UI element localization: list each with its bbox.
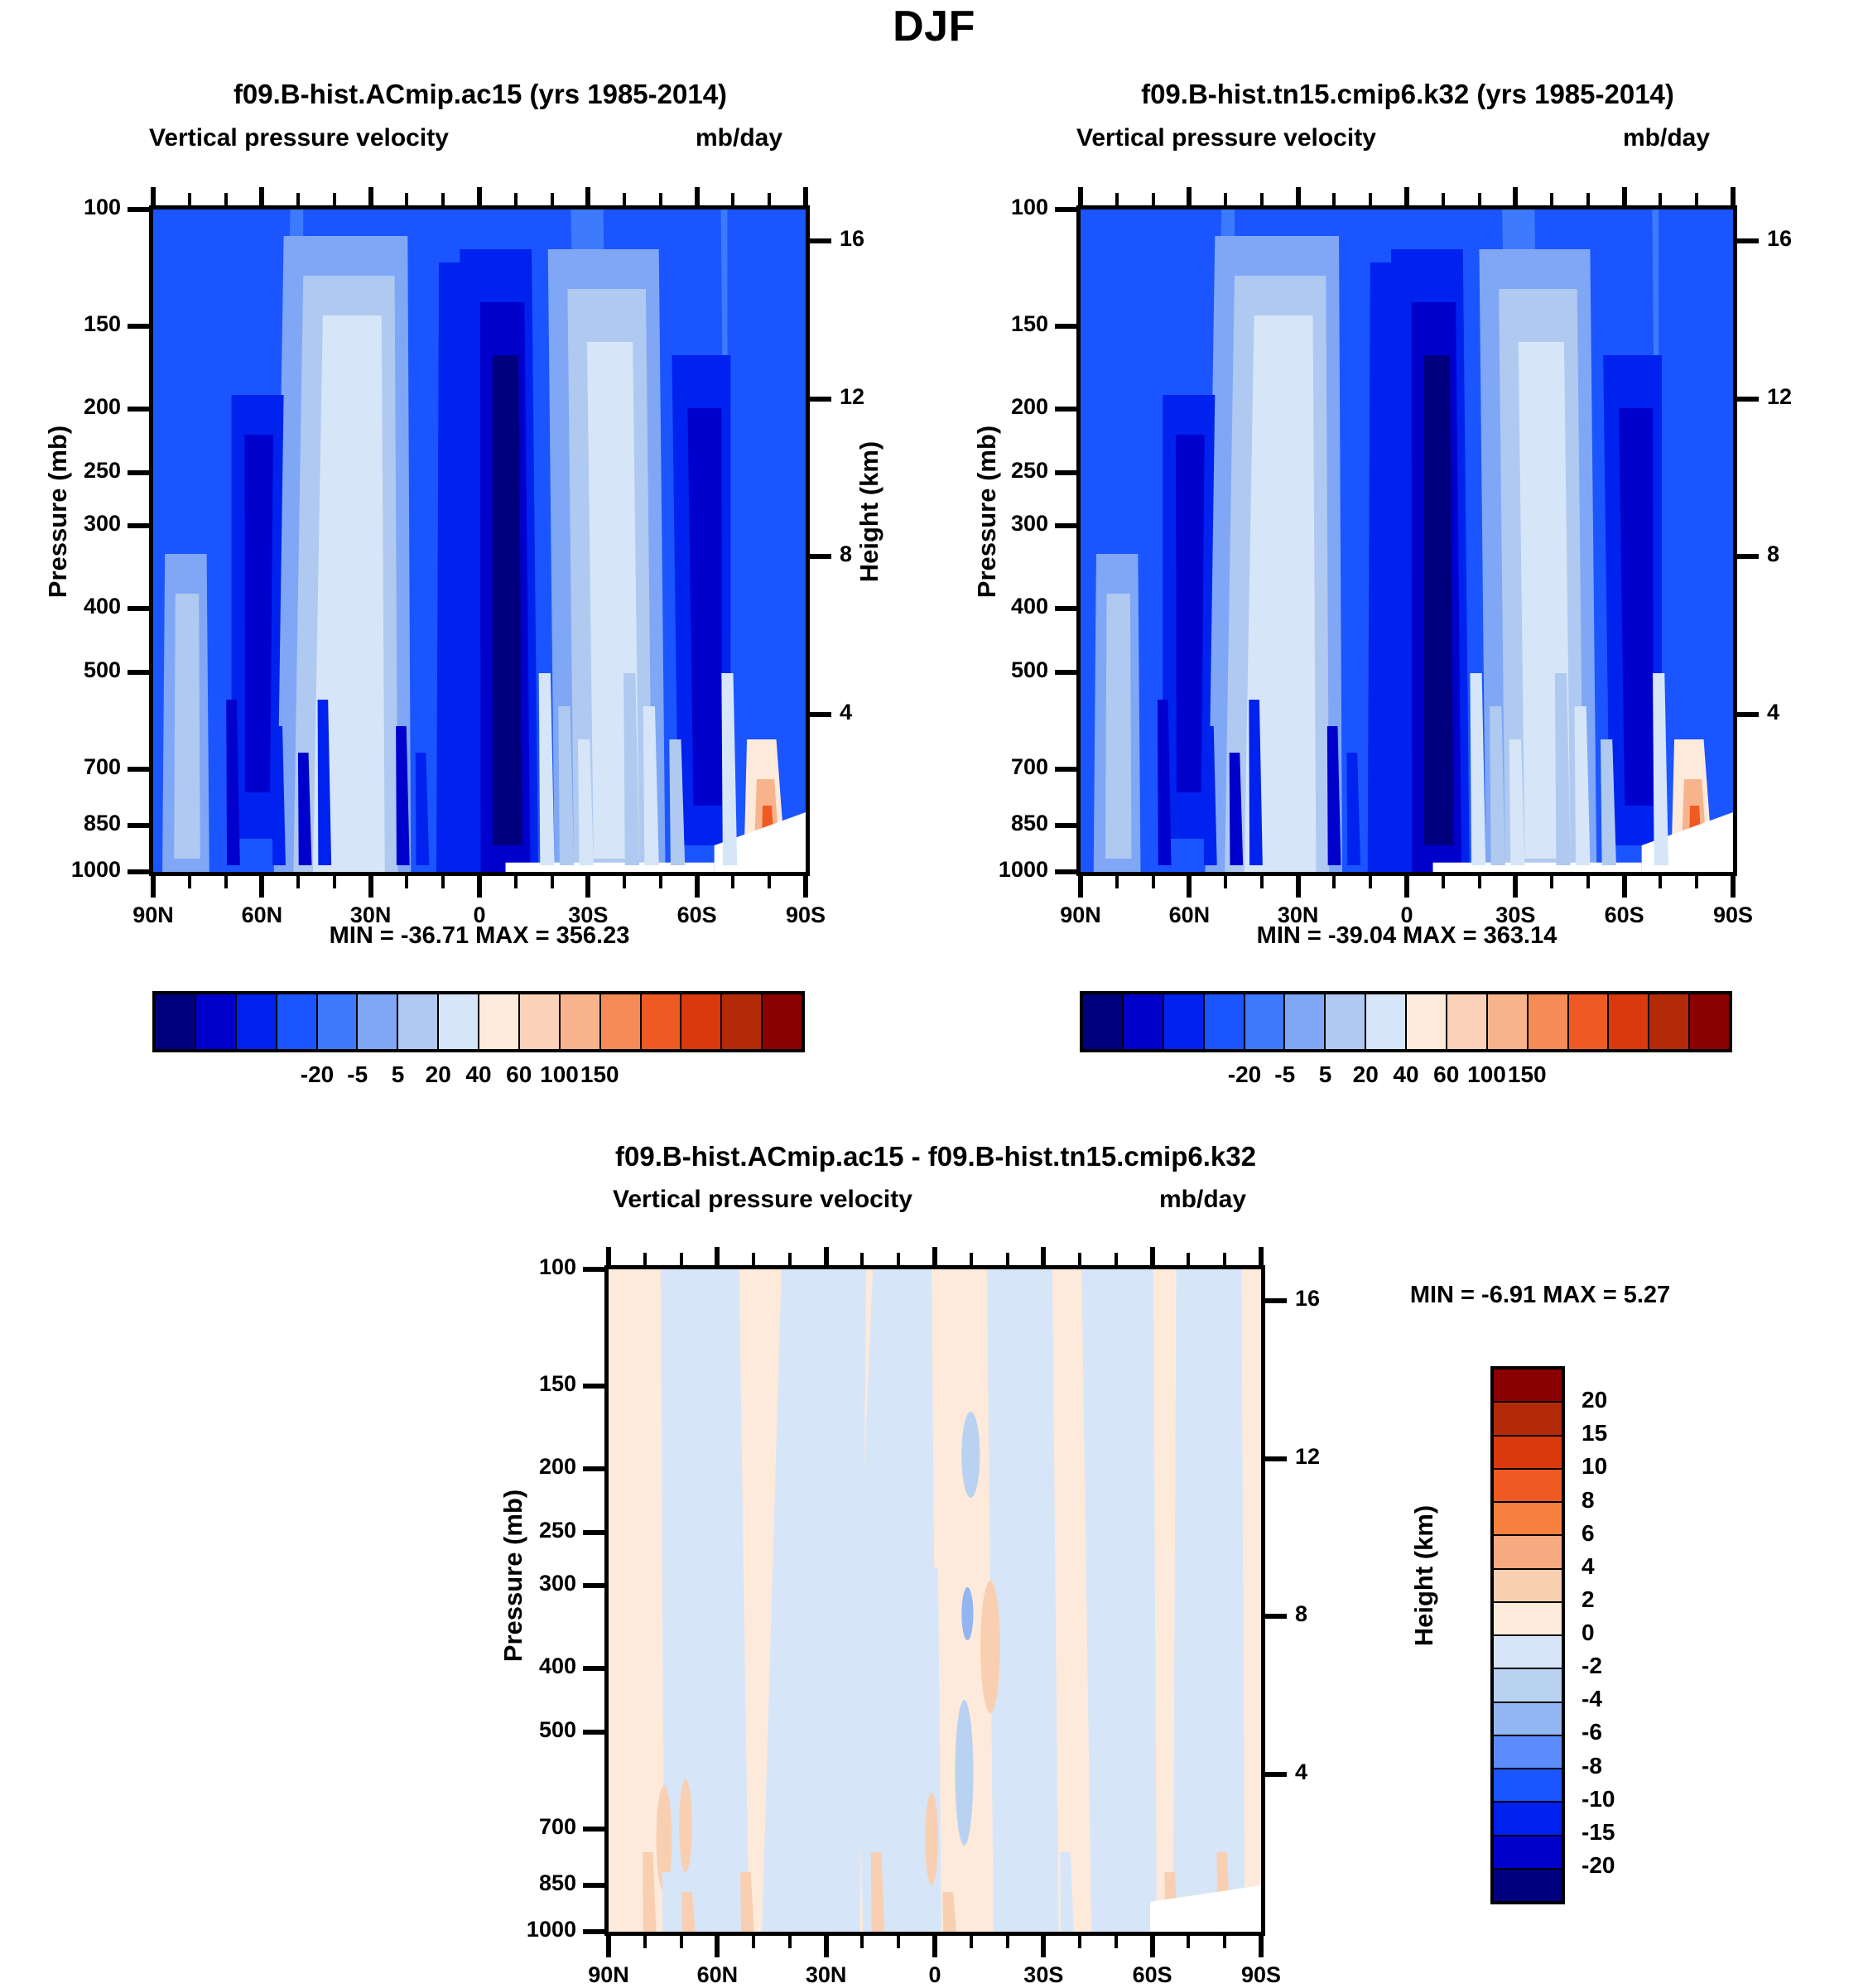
lat-tick-top: [368, 187, 373, 207]
height-tick-label: 16: [1767, 226, 1825, 252]
colorbar-tick-label: 20: [1582, 1387, 1697, 1413]
lat-tick-label: 30N: [777, 1962, 876, 1988]
pressure-tick-label: 200: [0, 394, 121, 420]
height-tick-label: 16: [1295, 1286, 1353, 1312]
colorbar-tick-label: -2: [1582, 1653, 1697, 1679]
colorbar-main-right-labels: -20-55204060100150: [1080, 1061, 1732, 1095]
lat-minor-tick-top: [643, 1253, 647, 1265]
colorbar-tick-label: -20: [1582, 1852, 1697, 1879]
pressure-tick-label: 400: [927, 594, 1048, 619]
lat-minor-tick: [514, 876, 518, 888]
colorbar-cell: [1494, 1570, 1562, 1603]
pressure-tick-label: 700: [927, 754, 1048, 780]
pressure-tick: [583, 1384, 604, 1389]
height-tick-label: 4: [840, 700, 898, 725]
colorbar-cell: [1609, 994, 1649, 1049]
lat-tick-label: 60N: [1139, 903, 1239, 928]
colorbar-cell: [1488, 994, 1529, 1049]
pressure-tick: [128, 606, 149, 611]
lat-tick-top: [1041, 1247, 1046, 1267]
height-tick-label: 16: [840, 226, 898, 252]
height-tick-label: 8: [1767, 542, 1825, 567]
colorbar-cell: [1494, 1369, 1562, 1403]
lat-tick: [932, 1936, 937, 1957]
pressure-tick: [1055, 670, 1076, 675]
pressure-tick-label: 200: [455, 1454, 576, 1480]
colorbar-cell: [1494, 1603, 1562, 1636]
panel-top-right-contours: [1081, 209, 1733, 872]
pressure-tick: [1055, 207, 1076, 212]
lat-minor-tick: [659, 876, 662, 888]
pressure-tick-label: 150: [0, 311, 121, 337]
lat-tick-label: 60N: [667, 1962, 767, 1988]
colorbar-tick-label: -8: [1582, 1753, 1697, 1779]
pressure-tick: [583, 1583, 604, 1588]
lat-tick: [1187, 876, 1192, 898]
lat-tick: [1622, 876, 1627, 898]
colorbar-cell: [681, 994, 722, 1049]
lat-tick-top: [1150, 1247, 1155, 1267]
height-tick-label: 4: [1767, 700, 1825, 725]
pressure-tick: [1055, 523, 1076, 528]
lat-tick: [715, 1936, 720, 1957]
colorbar-cell: [520, 994, 561, 1049]
lat-minor-tick-top: [1478, 193, 1481, 205]
lat-tick: [824, 1936, 829, 1957]
colorbar-tick-label: -15: [1582, 1819, 1697, 1846]
lat-minor-tick-top: [551, 193, 554, 205]
height-tick: [1737, 238, 1759, 243]
colorbar-cell: [196, 994, 237, 1049]
lat-tick: [695, 876, 700, 898]
colorbar-main-left: [152, 991, 805, 1052]
lat-minor-tick-top: [752, 1253, 755, 1265]
lat-tick: [1150, 1936, 1155, 1957]
pressure-tick-label: 500: [0, 657, 121, 683]
colorbar-tick-label: 150: [550, 1061, 649, 1088]
pressure-tick: [128, 670, 149, 675]
colorbar-tick-label: 2: [1582, 1586, 1697, 1613]
colorbar-cell: [722, 994, 763, 1049]
colorbar-tick-label: 4: [1582, 1553, 1697, 1580]
lat-minor-tick: [1550, 876, 1553, 888]
pressure-tick-label: 500: [455, 1717, 576, 1743]
pressure-tick-label: 1000: [0, 857, 121, 883]
pressure-tick: [583, 1666, 604, 1671]
pressure-tick-label: 100: [927, 195, 1048, 220]
lat-minor-tick: [224, 876, 228, 888]
lat-tick-top: [1622, 187, 1627, 207]
lat-tick-label: 90S: [756, 903, 855, 928]
lat-minor-tick: [1695, 876, 1698, 888]
panel-bottom-diff-units: mb/day: [1159, 1186, 1246, 1214]
colorbar-cell: [318, 994, 359, 1049]
lat-tick-top: [259, 187, 264, 207]
pressure-tick-label: 100: [0, 195, 121, 220]
lat-minor-tick: [1078, 1936, 1081, 1948]
lat-minor-tick: [405, 876, 408, 888]
lat-minor-tick: [731, 876, 734, 888]
pressure-tick-label: 250: [0, 458, 121, 484]
lat-tick-top: [1078, 187, 1083, 207]
lat-tick: [368, 876, 373, 898]
lat-minor-tick: [1006, 1936, 1009, 1948]
lat-tick-label: 90S: [1683, 903, 1783, 928]
lat-tick: [477, 876, 482, 898]
pressure-tick: [1055, 823, 1076, 828]
height-tick-label: 12: [1767, 384, 1825, 410]
lat-tick-top: [151, 187, 156, 207]
lat-minor-tick-top: [731, 193, 734, 205]
pressure-tick: [1055, 869, 1076, 874]
lat-minor-tick: [1115, 1936, 1118, 1948]
lat-tick: [1404, 876, 1409, 898]
colorbar-diff-labels: 20151086420-2-4-6-8-10-15-20: [1573, 1366, 1706, 1904]
lat-minor-tick: [1659, 876, 1662, 888]
lat-tick-top: [1187, 187, 1192, 207]
colorbar-cell: [1164, 994, 1205, 1049]
lat-tick-top: [715, 1247, 720, 1267]
lat-minor-tick-top: [1187, 1253, 1190, 1265]
pressure-tick: [583, 1466, 604, 1471]
lat-minor-tick: [551, 876, 554, 888]
lat-tick-top: [1296, 187, 1301, 207]
lat-minor-tick-top: [1115, 1253, 1118, 1265]
lat-minor-tick: [296, 876, 300, 888]
colorbar-tick-label: 10: [1582, 1453, 1697, 1480]
panel-bottom-diff-plot: [604, 1265, 1265, 1936]
lat-minor-tick-top: [514, 193, 518, 205]
lat-tick-label: 90N: [1031, 903, 1130, 928]
pressure-tick: [128, 470, 149, 475]
lat-minor-tick: [1442, 876, 1445, 888]
height-tick-label: 8: [1295, 1601, 1353, 1627]
pressure-tick-label: 850: [455, 1870, 576, 1896]
pressure-tick: [128, 869, 149, 874]
lat-minor-tick-top: [897, 1253, 900, 1265]
lat-tick: [151, 876, 156, 898]
height-tick-label: 12: [840, 384, 898, 410]
pressure-tick-label: 300: [927, 511, 1048, 537]
lat-tick-top: [803, 187, 808, 207]
height-tick: [810, 238, 831, 243]
lat-minor-tick: [643, 1936, 647, 1948]
colorbar-cell: [358, 994, 398, 1049]
lat-tick: [1731, 876, 1736, 898]
pressure-tick: [1055, 606, 1076, 611]
pressure-tick-label: 200: [927, 394, 1048, 420]
lat-minor-tick-top: [768, 193, 771, 205]
lat-minor-tick-top: [1586, 193, 1590, 205]
pressure-tick: [583, 1827, 604, 1832]
lat-tick: [803, 876, 808, 898]
lat-minor-tick-top: [1223, 1253, 1226, 1265]
colorbar-tick-label: 6: [1582, 1520, 1697, 1547]
colorbar-cell: [156, 994, 196, 1049]
colorbar-cell: [1494, 1503, 1562, 1536]
lat-minor-tick-top: [1332, 193, 1336, 205]
pressure-tick: [128, 767, 149, 772]
pressure-tick: [1055, 470, 1076, 475]
lat-minor-tick-top: [1006, 1253, 1009, 1265]
lat-tick-label: 30N: [321, 903, 421, 928]
colorbar-cell: [1245, 994, 1286, 1049]
colorbar-tick-label: -6: [1582, 1719, 1697, 1745]
lat-minor-tick: [441, 876, 445, 888]
height-tick: [810, 554, 831, 559]
lat-minor-tick: [188, 876, 191, 888]
panel-top-left-title: f09.B-hist.ACmip.ac15 (yrs 1985-2014): [50, 79, 911, 110]
lat-minor-tick-top: [659, 193, 662, 205]
panel-bottom-diff-subtitle: Vertical pressure velocity: [613, 1186, 912, 1214]
panel-top-right-plot: [1076, 205, 1737, 876]
lat-minor-tick-top: [1550, 193, 1553, 205]
height-tick-label: 8: [840, 542, 898, 567]
pressure-tick-label: 1000: [455, 1917, 576, 1942]
height-tick: [1265, 1614, 1287, 1619]
pressure-tick: [1055, 407, 1076, 412]
lat-tick-label: 90N: [559, 1962, 658, 1988]
lat-minor-tick-top: [1260, 193, 1264, 205]
colorbar-tick-label: 15: [1582, 1420, 1697, 1446]
lat-minor-tick-top: [680, 1253, 683, 1265]
colorbar-cell: [1494, 1636, 1562, 1669]
colorbar-cell: [479, 994, 520, 1049]
panel-top-left-contours: [153, 209, 806, 872]
colorbar-cell: [1205, 994, 1245, 1049]
lat-tick-top: [1513, 187, 1518, 207]
lat-tick-top: [606, 1247, 611, 1267]
lat-minor-tick: [1115, 876, 1119, 888]
lat-minor-tick: [860, 1936, 864, 1948]
lat-tick-top: [824, 1247, 829, 1267]
height-tick-label: 12: [1295, 1444, 1353, 1470]
lat-minor-tick: [897, 1936, 900, 1948]
lat-tick-label: 30S: [994, 1962, 1093, 1988]
lat-minor-tick: [1332, 876, 1336, 888]
colorbar-cell: [1494, 1870, 1562, 1901]
colorbar-tick-label: 150: [1477, 1061, 1577, 1088]
pressure-tick-label: 500: [927, 657, 1048, 683]
lat-minor-tick-top: [1224, 193, 1227, 205]
lat-tick: [606, 1936, 611, 1957]
lat-minor-tick-top: [296, 193, 300, 205]
lat-minor-tick: [1586, 876, 1590, 888]
lat-tick-top: [932, 1247, 937, 1267]
pressure-tick: [583, 1883, 604, 1888]
lat-minor-tick: [1187, 1936, 1190, 1948]
pressure-tick: [128, 523, 149, 528]
lat-minor-tick: [333, 876, 336, 888]
lat-tick: [1078, 876, 1083, 898]
lat-tick: [1296, 876, 1301, 898]
lat-minor-tick: [1152, 876, 1155, 888]
lat-minor-tick-top: [788, 1253, 792, 1265]
pressure-tick-label: 300: [455, 1571, 576, 1596]
lat-tick-label: 90S: [1211, 1962, 1311, 1988]
contour-field: [153, 209, 806, 872]
colorbar-cell: [1407, 994, 1447, 1049]
colorbar-tick-label: 0: [1582, 1620, 1697, 1646]
panel-bottom-diff-minmax: MIN = -6.91 MAX = 5.27: [1275, 1282, 1805, 1309]
contour-field-diff: [609, 1269, 1261, 1932]
pressure-tick-label: 100: [455, 1254, 576, 1280]
colorbar-tick-label: 8: [1582, 1487, 1697, 1514]
panel-bottom-diff-ylabel-right: Height (km): [1409, 1439, 1439, 1712]
lat-minor-tick: [1478, 876, 1481, 888]
lat-tick-top: [1259, 1247, 1264, 1267]
colorbar-cell: [1366, 994, 1407, 1049]
lat-minor-tick-top: [970, 1253, 973, 1265]
pressure-tick: [128, 207, 149, 212]
pressure-tick-label: 700: [455, 1814, 576, 1840]
height-tick: [810, 397, 831, 402]
lat-tick-label: 0: [1357, 903, 1456, 928]
pressure-tick-label: 250: [927, 458, 1048, 484]
colorbar-cell: [601, 994, 642, 1049]
pressure-tick: [128, 823, 149, 828]
colorbar-tick-label: -10: [1582, 1786, 1697, 1812]
colorbar-cell: [642, 994, 682, 1049]
pressure-tick-label: 300: [0, 511, 121, 537]
lat-minor-tick-top: [405, 193, 408, 205]
lat-minor-tick: [1223, 1936, 1226, 1948]
colorbar-cell: [763, 994, 802, 1049]
lat-tick-top: [1404, 187, 1409, 207]
colorbar-cell: [1494, 1836, 1562, 1870]
pressure-tick: [583, 1929, 604, 1934]
height-tick: [810, 712, 831, 717]
contour-field: [1081, 209, 1733, 872]
figure-season-title: DJF: [0, 2, 1868, 51]
panel-top-right-title: f09.B-hist.tn15.cmip6.k32 (yrs 1985-2014…: [977, 79, 1838, 110]
lat-minor-tick-top: [224, 193, 228, 205]
panel-bottom-diff-title: f09.B-hist.ACmip.ac15 - f09.B-hist.tn15.…: [480, 1141, 1391, 1172]
lat-tick-label: 60N: [212, 903, 311, 928]
pressure-tick: [1055, 767, 1076, 772]
colorbar-cell: [1494, 1803, 1562, 1836]
lat-tick: [259, 876, 264, 898]
lat-minor-tick-top: [1659, 193, 1662, 205]
lat-minor-tick: [970, 1936, 973, 1948]
lat-tick-top: [477, 187, 482, 207]
lat-minor-tick: [1224, 876, 1227, 888]
lat-minor-tick-top: [1078, 1253, 1081, 1265]
height-tick: [1265, 1772, 1287, 1777]
lat-minor-tick-top: [441, 193, 445, 205]
colorbar-cell: [1569, 994, 1610, 1049]
pressure-tick-label: 150: [927, 311, 1048, 337]
pressure-tick-label: 400: [455, 1653, 576, 1679]
height-tick-label: 4: [1295, 1759, 1353, 1785]
pressure-tick-label: 1000: [927, 857, 1048, 883]
lat-tick-label: 30N: [1249, 903, 1348, 928]
lat-minor-tick: [680, 1936, 683, 1948]
pressure-tick-label: 850: [0, 811, 121, 836]
pressure-tick: [128, 324, 149, 329]
pressure-tick: [583, 1267, 604, 1272]
lat-minor-tick: [788, 1936, 792, 1948]
pressure-tick-label: 700: [0, 754, 121, 780]
lat-tick-label: 60S: [1103, 1962, 1202, 1988]
pressure-tick: [1055, 324, 1076, 329]
height-tick: [1737, 712, 1759, 717]
lat-minor-tick: [623, 876, 626, 888]
lat-minor-tick: [752, 1936, 755, 1948]
lat-minor-tick-top: [1369, 193, 1372, 205]
lat-minor-tick-top: [188, 193, 191, 205]
panel-top-left-ylabel-right: Height (km): [855, 375, 884, 648]
lat-tick: [1259, 1936, 1264, 1957]
colorbar-cell: [561, 994, 601, 1049]
panel-top-right-subtitle: Vertical pressure velocity: [1076, 124, 1376, 152]
colorbar-tick-label: -4: [1582, 1686, 1697, 1712]
panel-top-right-units: mb/day: [1623, 124, 1710, 152]
panel-top-left-units: mb/day: [696, 124, 782, 152]
pressure-tick-label: 400: [0, 594, 121, 619]
colorbar-cell: [1124, 994, 1164, 1049]
lat-tick-label: 60S: [1575, 903, 1674, 928]
lat-minor-tick-top: [1442, 193, 1445, 205]
colorbar-cell: [398, 994, 439, 1049]
lat-minor-tick-top: [1115, 193, 1119, 205]
panel-top-left-plot: [149, 205, 810, 876]
colorbar-cell: [1494, 1403, 1562, 1436]
pressure-tick: [583, 1530, 604, 1535]
lat-tick-top: [695, 187, 700, 207]
pressure-tick: [128, 407, 149, 412]
panel-top-left-subtitle: Vertical pressure velocity: [149, 124, 449, 152]
lat-minor-tick-top: [1695, 193, 1698, 205]
colorbar-cell: [1494, 1669, 1562, 1702]
colorbar-diff: [1490, 1366, 1565, 1904]
panel-bottom-diff-contours: [609, 1269, 1261, 1932]
height-tick: [1265, 1456, 1287, 1461]
lat-tick: [1041, 1936, 1046, 1957]
colorbar-cell: [1649, 994, 1690, 1049]
colorbar-cell: [1494, 1769, 1562, 1803]
lat-minor-tick: [1260, 876, 1264, 888]
lat-tick-top: [1731, 187, 1736, 207]
colorbar-cell: [1326, 994, 1366, 1049]
lat-minor-tick-top: [623, 193, 626, 205]
height-tick: [1265, 1298, 1287, 1303]
lat-tick-label: 30S: [538, 903, 638, 928]
lat-minor-tick-top: [333, 193, 336, 205]
colorbar-cell: [1447, 994, 1488, 1049]
lat-tick-label: 60S: [648, 903, 747, 928]
pressure-tick: [583, 1730, 604, 1735]
colorbar-cell: [1083, 994, 1124, 1049]
pressure-tick-label: 850: [927, 811, 1048, 836]
lat-minor-tick-top: [860, 1253, 864, 1265]
colorbar-cell: [1494, 1536, 1562, 1569]
lat-tick-label: 90N: [104, 903, 203, 928]
lat-tick-label: 0: [430, 903, 529, 928]
lat-tick-label: 0: [885, 1962, 985, 1988]
height-tick: [1737, 554, 1759, 559]
colorbar-cell: [237, 994, 277, 1049]
pressure-tick-label: 250: [455, 1518, 576, 1543]
colorbar-cell: [1494, 1470, 1562, 1503]
lat-minor-tick: [1369, 876, 1372, 888]
height-tick: [1737, 397, 1759, 402]
colorbar-cell: [1285, 994, 1326, 1049]
lat-tick-label: 30S: [1466, 903, 1565, 928]
colorbar-cell: [439, 994, 479, 1049]
lat-minor-tick-top: [1152, 193, 1155, 205]
lat-tick-top: [585, 187, 590, 207]
